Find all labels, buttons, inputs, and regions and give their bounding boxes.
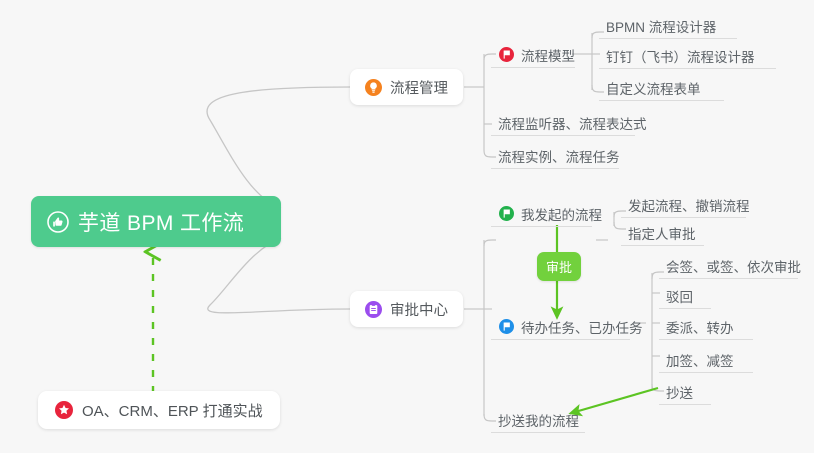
- flag-icon: [499, 206, 514, 221]
- node-label: 流程模型: [521, 49, 575, 65]
- approval-badge[interactable]: 审批: [537, 252, 581, 281]
- node-label: 发起流程、撤销流程: [628, 199, 750, 215]
- node-my-started-processes[interactable]: 我发起的流程: [491, 197, 592, 227]
- root-label: 芋道 BPM 工作流: [78, 207, 244, 237]
- node-label: 委派、转办: [666, 321, 734, 337]
- node-custom-form[interactable]: 自定义流程表单: [599, 71, 724, 101]
- root-node[interactable]: 芋道 BPM 工作流: [31, 196, 281, 247]
- node-assignee-approval[interactable]: 指定人审批: [621, 216, 704, 246]
- node-label: 驳回: [666, 290, 693, 306]
- connector-root-to-process-management: [207, 87, 350, 208]
- node-label: 钉钉（飞书）流程设计器: [606, 50, 755, 66]
- branch-approval-center[interactable]: 审批中心: [350, 291, 463, 327]
- node-reject[interactable]: 驳回: [659, 279, 711, 309]
- node-dingtalk-designer[interactable]: 钉钉（飞书）流程设计器: [599, 39, 776, 69]
- thumbs-up-icon: [47, 211, 69, 233]
- node-label: 抄送: [666, 386, 693, 402]
- branch-label: 审批中心: [390, 299, 448, 320]
- node-label: 待办任务、已办任务: [521, 321, 643, 337]
- connector-ac-corner-top: [484, 240, 496, 246]
- node-process-instance[interactable]: 流程实例、流程任务: [491, 139, 619, 169]
- node-delegate-transfer[interactable]: 委派、转办: [659, 310, 753, 340]
- node-start-cancel-process[interactable]: 发起流程、撤销流程: [621, 188, 746, 218]
- node-process-model[interactable]: 流程模型: [491, 38, 575, 68]
- node-bpmn-designer[interactable]: BPMN 流程设计器: [599, 9, 737, 39]
- node-label: 指定人审批: [628, 227, 696, 243]
- node-label: 流程实例、流程任务: [498, 150, 620, 166]
- clipboard-icon: [365, 301, 382, 318]
- node-label: 自定义流程表单: [606, 82, 701, 98]
- node-label: 会签、或签、依次审批: [666, 260, 801, 276]
- star-icon: [55, 401, 73, 419]
- note-integration-practice[interactable]: OA、CRM、ERP 打通实战: [38, 391, 280, 429]
- node-cc[interactable]: 抄送: [659, 375, 711, 405]
- node-label: 我发起的流程: [521, 208, 602, 224]
- node-label: 流程监听器、流程表达式: [498, 117, 647, 133]
- node-label: 加签、减签: [666, 354, 734, 370]
- branch-label: 流程管理: [390, 77, 448, 98]
- node-label: 抄送我的流程: [498, 414, 579, 430]
- node-process-listener[interactable]: 流程监听器、流程表达式: [491, 106, 635, 136]
- mindmap-canvas: 芋道 BPM 工作流 流程管理 流程模型 BPMN 流程设计器 钉钉（飞书）流程…: [0, 0, 814, 453]
- connector-root-to-approval-center: [208, 238, 350, 313]
- node-add-remove-sign[interactable]: 加签、减签: [659, 343, 753, 373]
- node-cc-to-me[interactable]: 抄送我的流程: [491, 403, 585, 433]
- flag-icon: [499, 47, 514, 62]
- flow-arrow-cc-to-ccmine: [575, 388, 658, 412]
- approval-badge-label: 审批: [546, 257, 572, 276]
- node-todo-done-tasks[interactable]: 待办任务、已办任务: [491, 310, 630, 340]
- flag-icon: [499, 319, 514, 334]
- node-countersign[interactable]: 会签、或签、依次审批: [659, 249, 798, 279]
- lightbulb-icon: [365, 79, 382, 96]
- note-label: OA、CRM、ERP 打通实战: [82, 400, 263, 421]
- node-label: BPMN 流程设计器: [606, 20, 716, 36]
- branch-process-management[interactable]: 流程管理: [350, 69, 463, 105]
